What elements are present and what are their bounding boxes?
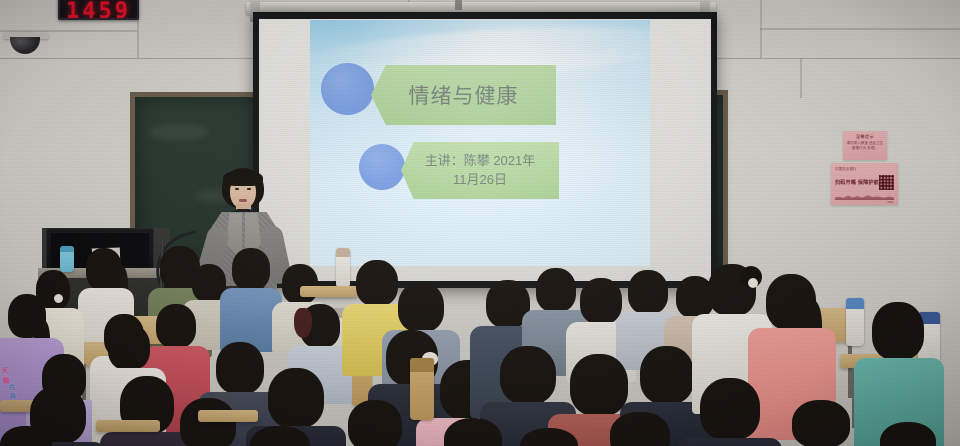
student-head [536, 268, 576, 312]
student-head [180, 398, 236, 446]
student-head [232, 248, 270, 290]
poster-footer: 2021 [887, 200, 894, 204]
student-head [108, 324, 150, 370]
notice-poster-body: 请勿带入教室 违反卫生管理行为 处理。 [846, 141, 884, 151]
student-head [610, 412, 670, 446]
student-head [216, 342, 264, 394]
student-head [580, 278, 622, 324]
lecturer-eye [247, 188, 251, 190]
student-head [700, 378, 760, 440]
desk [300, 286, 358, 297]
student-head [628, 270, 668, 314]
qr-code-icon [879, 175, 894, 190]
student-head [356, 260, 398, 306]
water-bottle [336, 248, 350, 288]
poster-skyline-graphic [835, 193, 894, 200]
lecturer-fringe [223, 170, 263, 186]
bottle-cap [846, 298, 864, 309]
desk [96, 420, 160, 432]
qr-campaign-poster: 中国农业银行 扫码开嘴 保障护航 2021 [831, 163, 898, 205]
lecturer-mouth [239, 199, 247, 202]
student-head [268, 368, 324, 428]
student-head [348, 400, 402, 446]
audience: 天裁 在路上 [0, 250, 960, 446]
student-torso [678, 438, 782, 446]
slide-subtitle-line2: 11月26日 [425, 171, 536, 190]
projection-screen: 情绪与健康 主讲：陈攀 2021年 11月26日 [253, 12, 717, 288]
slide-title: 情绪与健康 [409, 80, 519, 110]
wall-seam [760, 28, 960, 30]
screen-pull-knob [455, 0, 462, 10]
ceiling-dome-camera-icon [4, 32, 48, 54]
student-head [398, 282, 444, 332]
chalk-smudge [149, 123, 209, 141]
slide-circle-decor [359, 144, 405, 190]
bottle-cap [336, 248, 350, 257]
student-head [570, 354, 628, 416]
bottle-cap [60, 246, 74, 252]
slide-subtitle-line1: 主讲：陈攀 2021年 [425, 152, 536, 171]
hair-scrunchie [54, 294, 63, 303]
student-head [282, 264, 318, 304]
student-head [156, 304, 196, 348]
water-bottle [410, 358, 434, 420]
water-bottle [846, 298, 864, 346]
student-head [640, 346, 694, 404]
notice-poster: 温馨提示 请勿带入教室 违反卫生管理行为 处理。 [843, 131, 887, 160]
student-head [872, 302, 924, 360]
desk [198, 410, 258, 422]
classroom-photo: 1459 情绪与健康 主讲：陈攀 2021年 [0, 0, 960, 446]
slide-subtitle: 主讲：陈攀 2021年 11月26日 [425, 152, 536, 190]
wall-led-clock: 1459 [58, 0, 139, 20]
notice-poster-title: 温馨提示 [843, 134, 887, 140]
poster-logo: 中国农业银行 [835, 167, 857, 172]
water-bottle [60, 246, 74, 272]
wall-seam [800, 58, 802, 98]
poster-headline: 扫码开嘴 保障护航 [835, 179, 879, 186]
slide-title-banner: 情绪与健康 [371, 65, 556, 125]
student-head [500, 346, 556, 404]
projected-slide: 情绪与健康 主讲：陈攀 2021年 11月26日 [310, 20, 650, 266]
hair-scrunchie [748, 278, 758, 288]
slide-subtitle-banner: 主讲：陈攀 2021年 11月26日 [401, 142, 559, 199]
student-ponytail [294, 308, 312, 338]
bottle-cap [410, 358, 434, 372]
clock-digits: 1459 [66, 2, 131, 20]
camera-dome [10, 37, 40, 54]
slide-circle-decor [321, 63, 374, 115]
student-head [792, 400, 850, 446]
lecturer-eye [235, 188, 239, 190]
